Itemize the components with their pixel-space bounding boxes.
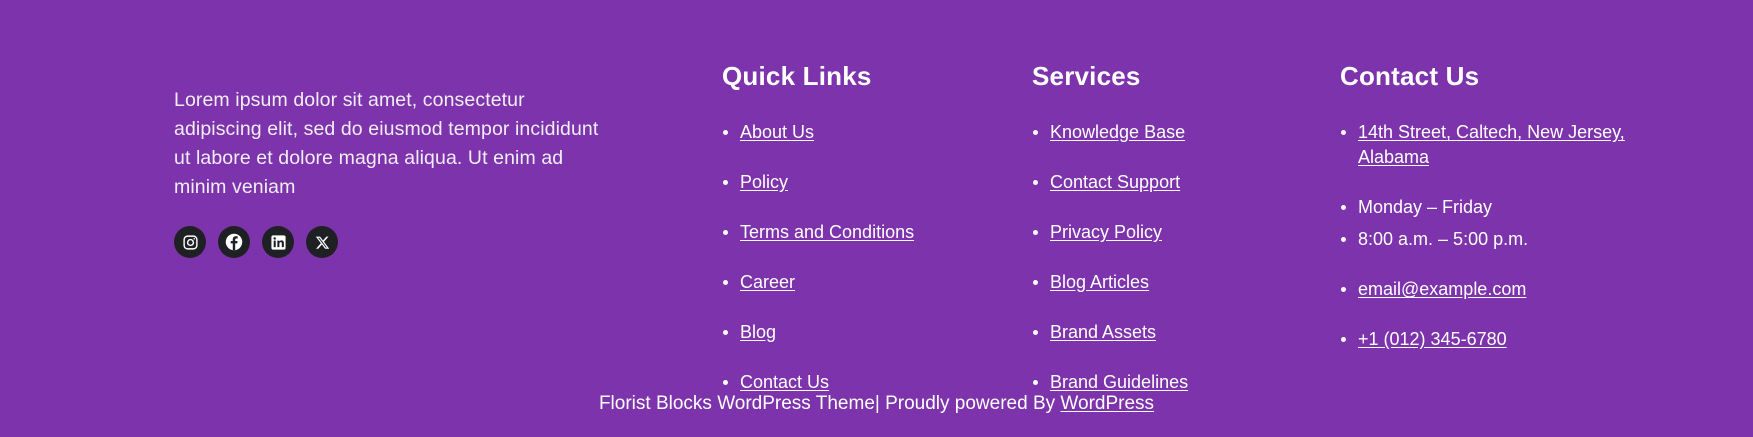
footer-bottom-bar: Florist Blocks WordPress Theme| Proudly … — [0, 370, 1753, 437]
service-link-privacy-policy[interactable]: Privacy Policy — [1050, 222, 1162, 242]
list-item: 14th Street, Caltech, New Jersey, Alabam… — [1340, 120, 1640, 170]
list-item: Blog Articles — [1032, 270, 1302, 295]
list-item: +1 (012) 345-6780 — [1340, 327, 1640, 352]
list-item: Career — [722, 270, 982, 295]
about-text: Lorem ipsum dolor sit amet, consectetur … — [174, 86, 604, 202]
contact-hours-days: Monday – Friday — [1358, 197, 1492, 217]
list-item: Terms and Conditions — [722, 220, 982, 245]
wordpress-link[interactable]: WordPress — [1060, 393, 1154, 414]
footer-credit-text: Florist Blocks WordPress Theme| Proudly … — [599, 393, 1060, 414]
social-link-linkedin[interactable] — [262, 226, 294, 258]
footer-services-column: Services Knowledge Base Contact Support … — [1032, 60, 1302, 395]
facebook-icon — [225, 233, 243, 251]
list-item: Privacy Policy — [1032, 220, 1302, 245]
contact-hours-time: 8:00 a.m. – 5:00 p.m. — [1358, 229, 1528, 249]
footer-contact-column: Contact Us 14th Street, Caltech, New Jer… — [1340, 60, 1640, 352]
quick-link-terms-and-conditions[interactable]: Terms and Conditions — [740, 222, 914, 242]
list-item: About Us — [722, 120, 982, 145]
service-link-knowledge-base[interactable]: Knowledge Base — [1050, 122, 1185, 142]
contact-address-link[interactable]: 14th Street, Caltech, New Jersey, Alabam… — [1358, 122, 1625, 167]
contact-phone-link[interactable]: +1 (012) 345-6780 — [1358, 329, 1507, 349]
quick-links-heading: Quick Links — [722, 60, 982, 92]
list-item: Knowledge Base — [1032, 120, 1302, 145]
social-link-facebook[interactable] — [218, 226, 250, 258]
footer-about-column: Lorem ipsum dolor sit amet, consectetur … — [174, 86, 604, 258]
footer-columns: Lorem ipsum dolor sit amet, consectetur … — [0, 0, 1753, 370]
contact-heading: Contact Us — [1340, 60, 1640, 92]
x-twitter-icon — [315, 235, 330, 250]
service-link-brand-assets[interactable]: Brand Assets — [1050, 322, 1156, 342]
linkedin-icon — [270, 234, 287, 251]
service-link-blog-articles[interactable]: Blog Articles — [1050, 272, 1149, 292]
quick-link-blog[interactable]: Blog — [740, 322, 776, 342]
instagram-icon — [182, 234, 199, 251]
footer-credit: Florist Blocks WordPress Theme| Proudly … — [599, 391, 1154, 417]
list-item: 8:00 a.m. – 5:00 p.m. — [1340, 227, 1640, 252]
social-link-instagram[interactable] — [174, 226, 206, 258]
services-heading: Services — [1032, 60, 1302, 92]
list-item: Brand Assets — [1032, 320, 1302, 345]
site-footer: Lorem ipsum dolor sit amet, consectetur … — [0, 0, 1753, 437]
contact-list: 14th Street, Caltech, New Jersey, Alabam… — [1340, 120, 1640, 352]
quick-link-policy[interactable]: Policy — [740, 172, 788, 192]
list-item: Blog — [722, 320, 982, 345]
quick-link-career[interactable]: Career — [740, 272, 795, 292]
list-item: Policy — [722, 170, 982, 195]
quick-link-about-us[interactable]: About Us — [740, 122, 814, 142]
quick-links-list: About Us Policy Terms and Conditions Car… — [722, 120, 982, 395]
social-link-x-twitter[interactable] — [306, 226, 338, 258]
list-item: Monday – Friday — [1340, 195, 1640, 220]
contact-email-link[interactable]: email@example.com — [1358, 279, 1526, 299]
list-item: email@example.com — [1340, 277, 1640, 302]
services-list: Knowledge Base Contact Support Privacy P… — [1032, 120, 1302, 395]
footer-quick-links-column: Quick Links About Us Policy Terms and Co… — [722, 60, 982, 395]
social-links — [174, 226, 604, 258]
service-link-contact-support[interactable]: Contact Support — [1050, 172, 1180, 192]
list-item: Contact Support — [1032, 170, 1302, 195]
